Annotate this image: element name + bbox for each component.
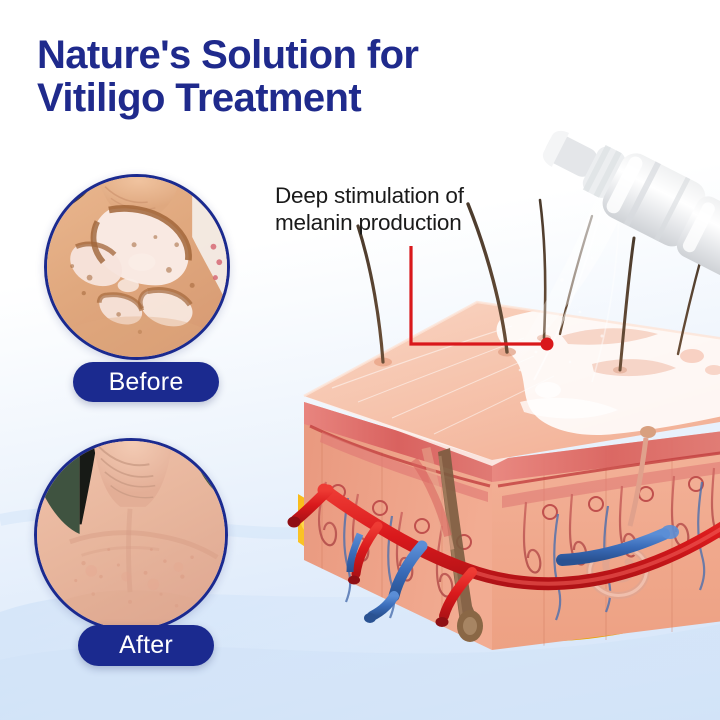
page-title: Nature's Solution for Vitiligo Treatment (37, 34, 418, 120)
annotation-leader-line (395, 240, 570, 360)
annotation-label: Deep stimulation of melanin production (275, 182, 464, 237)
before-photo (44, 174, 230, 360)
after-photo (34, 438, 228, 632)
advertisement-canvas: Nature's Solution for Vitiligo Treatment (0, 0, 720, 720)
before-badge: Before (73, 362, 219, 402)
after-badge: After (78, 625, 214, 666)
